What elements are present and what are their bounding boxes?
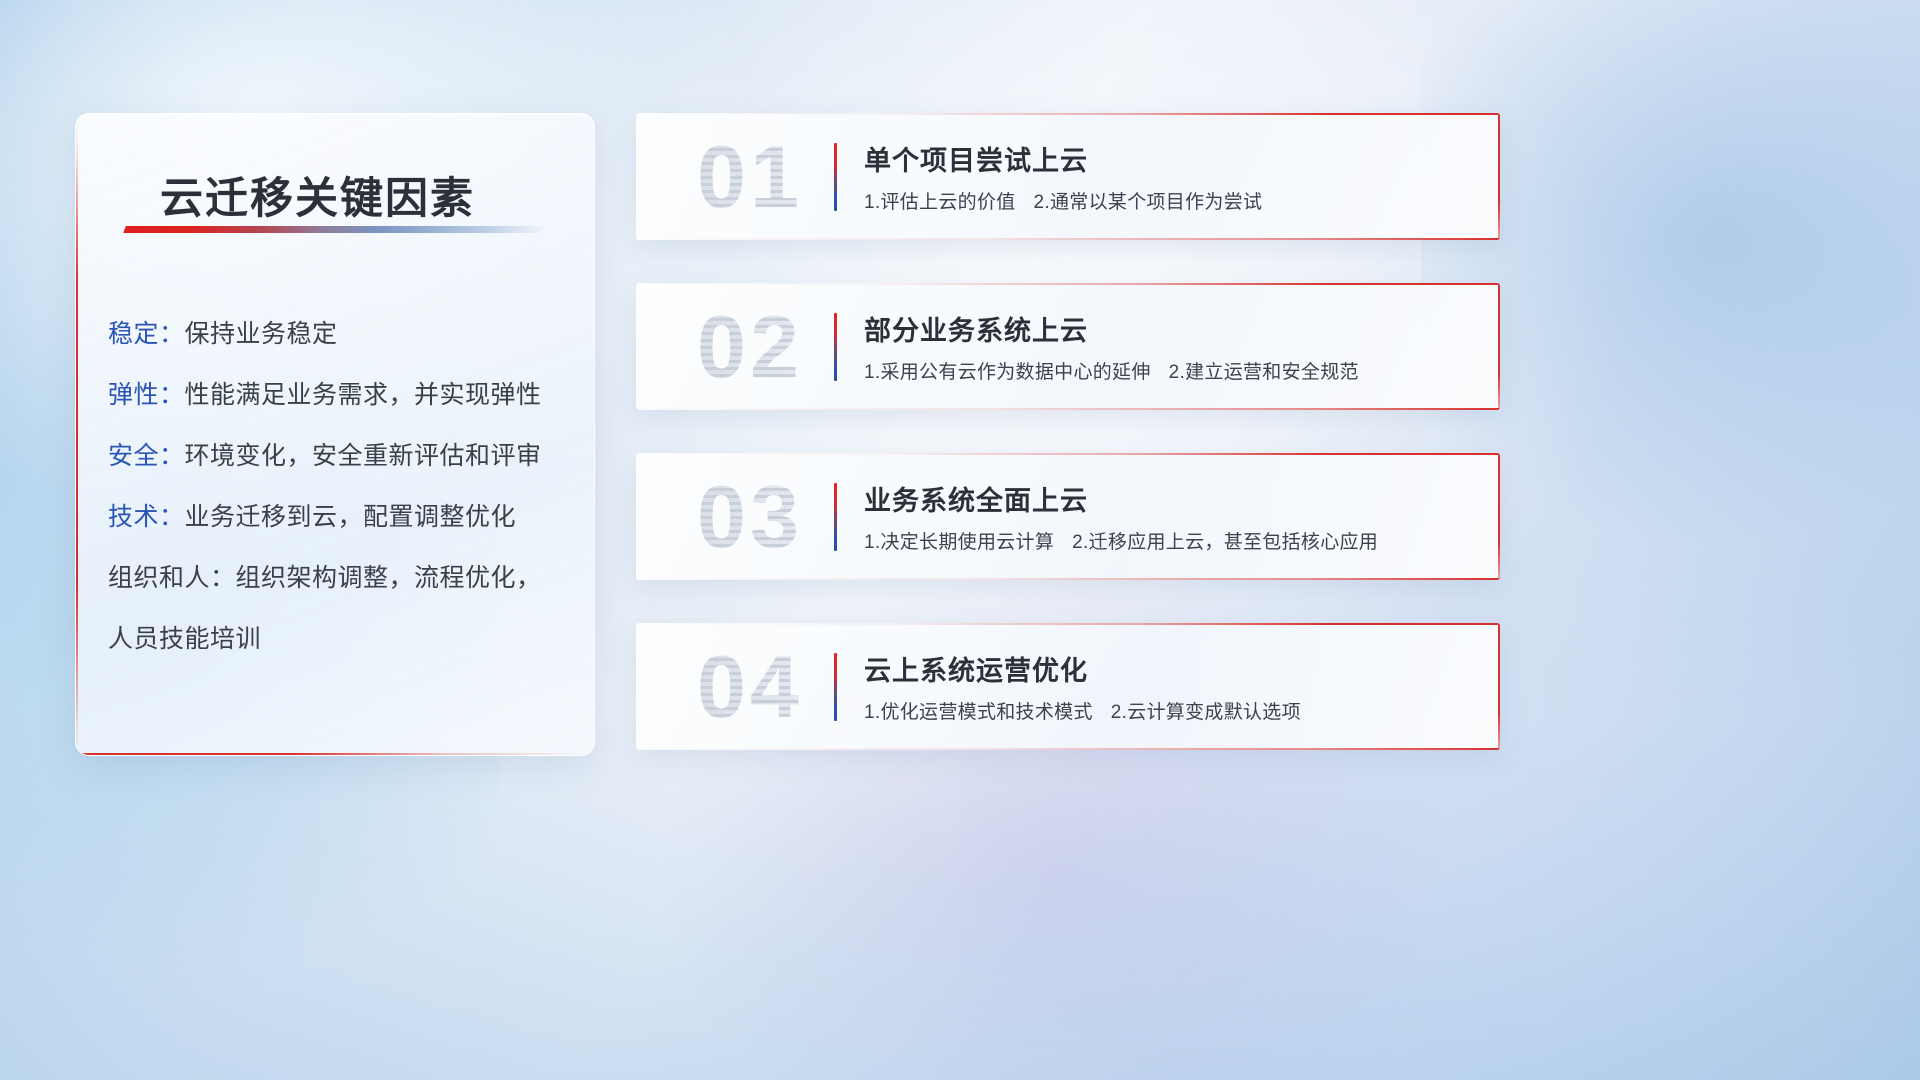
card-bottom-accent [636, 238, 1500, 240]
card-top-accent [636, 283, 1500, 285]
list-item: 技术：业务迁移到云，配置调整优化 [108, 487, 570, 548]
card-point-1: 1.优化运营模式和技术模式 [864, 702, 1093, 723]
card-top-accent [636, 623, 1500, 625]
card-point-1: 1.评估上云的价值 [864, 192, 1016, 213]
card-title: 业务系统全面上云 [864, 479, 1088, 518]
factor-value: 业务迁移到云，配置调整优化 [185, 503, 517, 531]
factor-list: 稳定：保持业务稳定 弹性：性能满足业务需求，并实现弹性 安全：环境变化，安全重新… [108, 304, 570, 670]
page-title: 云迁移关键因素 [160, 164, 475, 226]
factor-key: 弹性： [108, 381, 185, 409]
card-point-1: 1.决定长期使用云计算 [864, 532, 1054, 553]
list-item: 安全：环境变化，安全重新评估和评审 [108, 426, 570, 487]
card-point-2: 2.通常以某个项目作为尝试 [1034, 192, 1263, 213]
title-underline-gradient [123, 226, 543, 233]
card-top-accent [636, 453, 1500, 455]
factor-value: 组织架构调整，流程优化， [236, 564, 542, 592]
factor-key: 安全： [108, 442, 185, 470]
card-point-2: 2.云计算变成默认选项 [1111, 702, 1301, 723]
card-divider-bar [834, 313, 837, 381]
card-right-accent [1498, 623, 1500, 750]
factor-key: 组织和人： [108, 564, 236, 592]
card-bottom-accent [636, 578, 1500, 580]
card-title: 单个项目尝试上云 [864, 139, 1088, 178]
card-divider-bar [834, 143, 837, 211]
card-point-2: 2.迁移应用上云，甚至包括核心应用 [1072, 532, 1378, 553]
factor-key: 技术： [108, 503, 185, 531]
stage-number: 03 [660, 467, 840, 567]
key-factors-panel: 云迁移关键因素 稳定：保持业务稳定 弹性：性能满足业务需求，并实现弹性 安全：环… [75, 113, 595, 756]
card-right-accent [1498, 283, 1500, 410]
card-title: 部分业务系统上云 [864, 309, 1088, 348]
card-bottom-accent [636, 748, 1500, 750]
factor-value-continued: 人员技能培训 [108, 609, 570, 670]
factor-value: 保持业务稳定 [185, 320, 338, 348]
card-point-1: 1.采用公有云作为数据中心的延伸 [864, 362, 1151, 383]
card-bottom-accent [636, 408, 1500, 410]
stage-card[interactable]: 02 部分业务系统上云 1.采用公有云作为数据中心的延伸2.建立运营和安全规范 [636, 283, 1500, 410]
factor-value: 性能满足业务需求，并实现弹性 [185, 381, 542, 409]
card-divider-bar [834, 483, 837, 551]
card-right-accent [1498, 453, 1500, 580]
card-subtitle: 1.采用公有云作为数据中心的延伸2.建立运营和安全规范 [864, 357, 1359, 384]
card-divider-bar [834, 653, 837, 721]
stage-card-list: 01 单个项目尝试上云 1.评估上云的价值2.通常以某个项目作为尝试 02 部分… [636, 113, 1500, 793]
stage-card[interactable]: 01 单个项目尝试上云 1.评估上云的价值2.通常以某个项目作为尝试 [636, 113, 1500, 240]
list-item: 稳定：保持业务稳定 [108, 304, 570, 365]
card-right-accent [1498, 113, 1500, 240]
slide-stage: 云迁移关键因素 稳定：保持业务稳定 弹性：性能满足业务需求，并实现弹性 安全：环… [0, 0, 1920, 1080]
stage-number: 02 [660, 297, 840, 397]
panel-bottom-accent-bar [76, 753, 594, 755]
panel-left-accent-bar [76, 114, 78, 755]
card-subtitle: 1.评估上云的价值2.通常以某个项目作为尝试 [864, 187, 1262, 214]
stage-number: 01 [660, 127, 840, 227]
list-item: 组织和人：组织架构调整，流程优化， [108, 548, 570, 609]
card-title: 云上系统运营优化 [864, 649, 1088, 688]
card-point-2: 2.建立运营和安全规范 [1169, 362, 1359, 383]
list-item: 弹性：性能满足业务需求，并实现弹性 [108, 365, 570, 426]
stage-card[interactable]: 03 业务系统全面上云 1.决定长期使用云计算2.迁移应用上云，甚至包括核心应用 [636, 453, 1500, 580]
factor-key: 稳定： [108, 320, 185, 348]
stage-number: 04 [660, 637, 840, 737]
factor-value: 环境变化，安全重新评估和评审 [185, 442, 542, 470]
card-top-accent [636, 113, 1500, 115]
stage-card[interactable]: 04 云上系统运营优化 1.优化运营模式和技术模式2.云计算变成默认选项 [636, 623, 1500, 750]
card-subtitle: 1.决定长期使用云计算2.迁移应用上云，甚至包括核心应用 [864, 527, 1378, 554]
card-subtitle: 1.优化运营模式和技术模式2.云计算变成默认选项 [864, 697, 1301, 724]
